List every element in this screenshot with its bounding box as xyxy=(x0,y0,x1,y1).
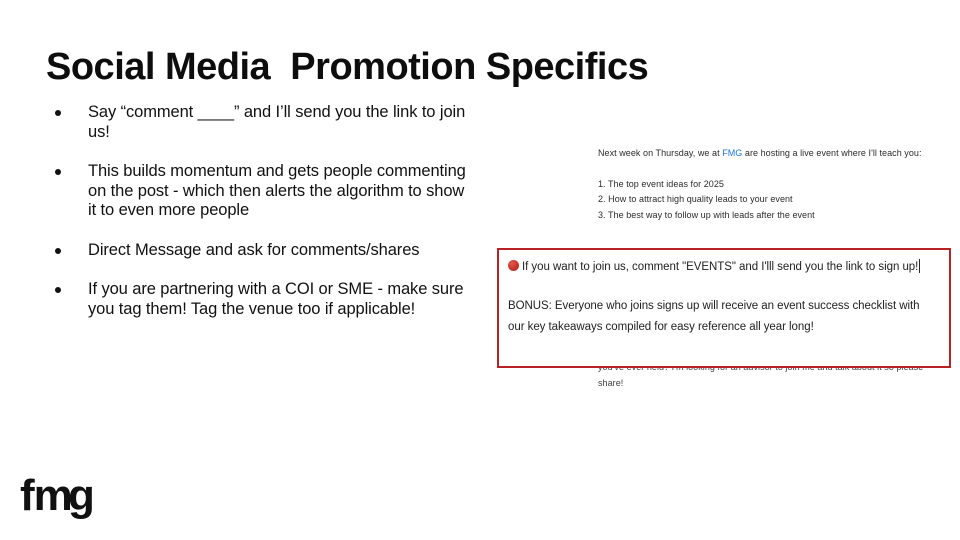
post-intro-after-link: are hosting a live event where I'll teac… xyxy=(742,148,921,158)
red-highlight-callout: If you want to join us, comment "EVENTS"… xyxy=(497,248,951,368)
bullet-dot-icon xyxy=(55,287,61,293)
list-item-label: This builds momentum and gets people com… xyxy=(88,162,466,219)
bullet-dot-icon xyxy=(55,110,61,116)
list-item: Direct Message and ask for comments/shar… xyxy=(46,241,466,261)
fmg-mention-link[interactable]: FMG xyxy=(722,148,742,158)
list-item-label: Say “comment ____” and I’ll send you the… xyxy=(88,103,465,141)
post-body-text: Next week on Thursday, we at FMG are hos… xyxy=(598,146,942,223)
presentation-slide: Social Media Promotion Specifics Say “co… xyxy=(0,0,960,540)
list-item: Say “comment ____” and I’ll send you the… xyxy=(46,103,466,142)
post-numbered-item: 3. The best way to follow up with leads … xyxy=(598,208,942,224)
callout-line-2: BONUS: Everyone who joins signs up will … xyxy=(508,296,939,338)
svg-text:fm: fm xyxy=(20,471,72,520)
list-item: If you are partnering with a COI or SME … xyxy=(46,280,466,319)
text-cursor-caret xyxy=(919,259,921,273)
post-numbered-item: 1. The top event ideas for 2025 xyxy=(598,177,942,193)
bullet-dot-icon xyxy=(55,169,61,175)
bullet-dot-icon xyxy=(55,248,61,254)
list-item: This builds momentum and gets people com… xyxy=(46,162,466,221)
fmg-logo-icon: fm g xyxy=(20,470,106,522)
bullet-list: Say “comment ____” and I’ll send you the… xyxy=(46,103,466,319)
page-title: Social Media Promotion Specifics xyxy=(46,44,706,90)
list-item-label: If you are partnering with a COI or SME … xyxy=(88,280,463,318)
post-numbered-item: 2. How to attract high quality leads to … xyxy=(598,192,942,208)
post-intro-before-link: Next week on Thursday, we at xyxy=(598,148,722,158)
callout-line-1: If you want to join us, comment "EVENTS"… xyxy=(508,257,939,278)
red-circle-emoji xyxy=(508,260,519,271)
post-numbered-list: 1. The top event ideas for 2025 2. How t… xyxy=(598,177,942,224)
list-item-label: Direct Message and ask for comments/shar… xyxy=(88,241,419,259)
svg-text:g: g xyxy=(68,471,95,520)
callout-line-1-text: If you want to join us, comment "EVENTS"… xyxy=(522,261,918,273)
